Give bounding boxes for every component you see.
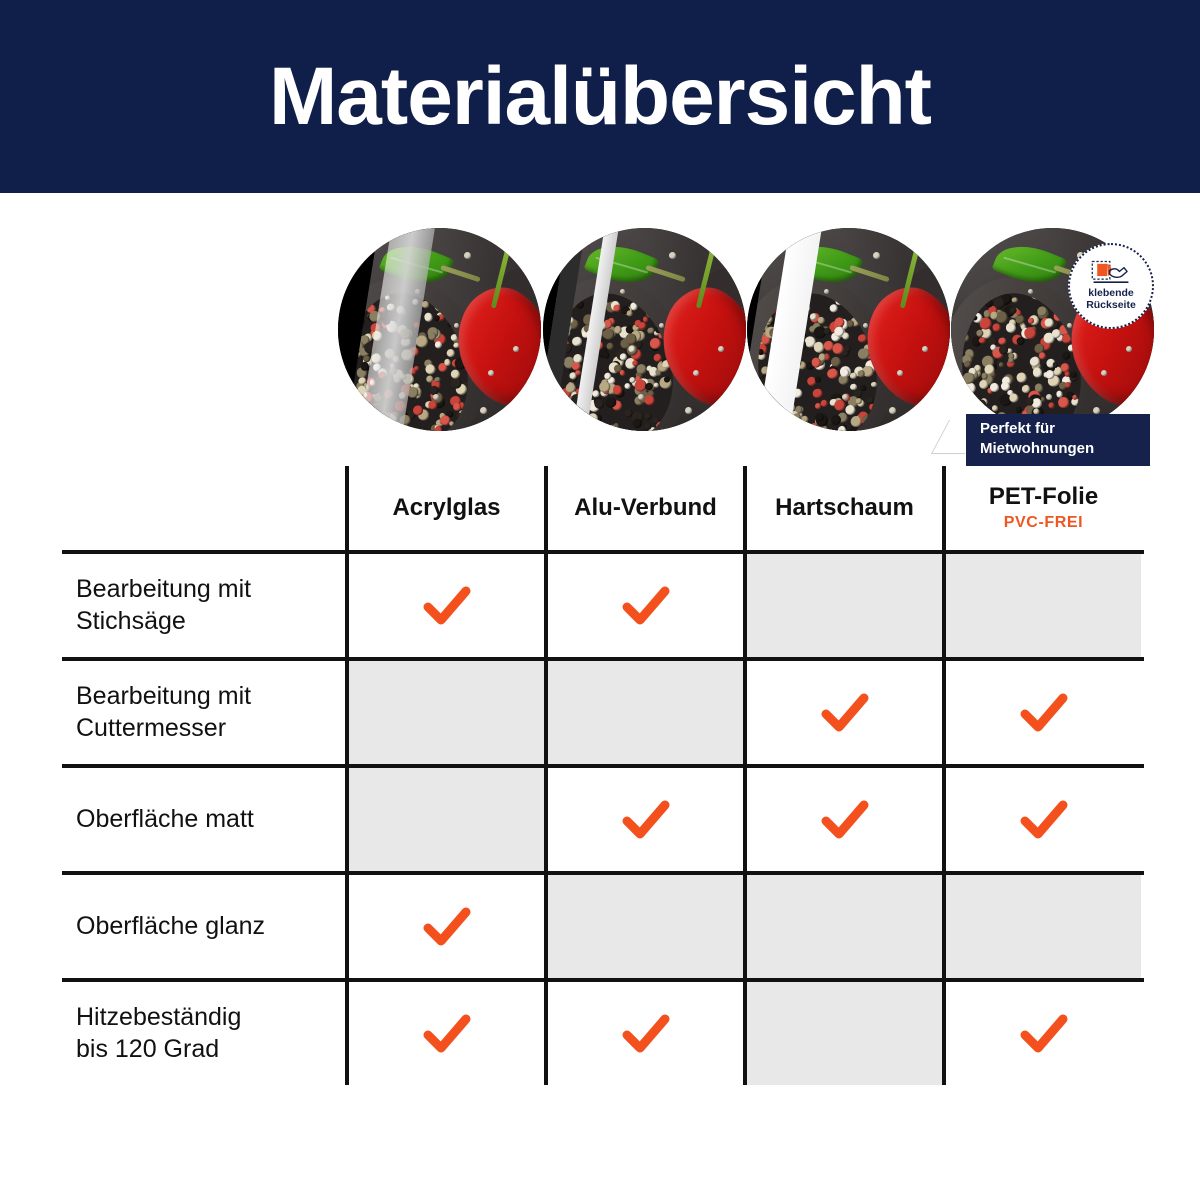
stray-peppercorn — [669, 252, 676, 259]
stray-peppercorn — [415, 289, 420, 294]
leaf-vein — [595, 256, 647, 273]
check-icon — [622, 1014, 670, 1054]
cell-r1-c2 — [743, 661, 942, 764]
peppercorn — [433, 300, 445, 312]
peppercorn — [359, 416, 367, 424]
row-label-stichsaege: Bearbeitung mit Stichsäge — [62, 554, 345, 657]
peppercorn — [585, 329, 595, 339]
product-image-circle — [747, 228, 950, 431]
peppercorn — [769, 327, 779, 337]
badge-label-line2: Rückseite — [1086, 300, 1136, 312]
check-icon — [821, 693, 869, 733]
peppercorn — [345, 319, 358, 332]
peppercorn — [835, 286, 843, 294]
table-row: Bearbeitung mit Stichsäge — [62, 550, 1144, 657]
peppercorn — [1011, 296, 1018, 303]
ribbon-label-line1: Perfekt für — [980, 419, 1150, 439]
leaf-vein — [1003, 256, 1055, 273]
peppercorn — [785, 372, 791, 378]
peppercorn — [607, 424, 616, 431]
peppercorn — [990, 344, 997, 351]
peppercorn — [427, 400, 438, 411]
stray-peppercorn — [620, 289, 625, 294]
peppercorn — [964, 360, 972, 368]
peppercorn — [1064, 381, 1071, 388]
mortar-inner — [951, 282, 1092, 431]
peppercorn — [786, 322, 798, 334]
product-sample-acrylglas[interactable] — [338, 228, 541, 431]
cell-r1-c3 — [942, 661, 1141, 764]
peppercorn — [448, 308, 455, 315]
peppercorn — [644, 412, 652, 420]
stray-peppercorn — [464, 252, 471, 259]
peppercorn — [764, 374, 770, 380]
peppercorn — [642, 299, 650, 307]
cell-r3-c2 — [743, 875, 942, 978]
stray-peppercorn — [1093, 407, 1100, 414]
peppercorn — [644, 394, 655, 405]
check-icon — [423, 907, 471, 947]
peppercorn — [969, 301, 980, 312]
peppercorn — [373, 394, 382, 403]
product-sample-strip — [338, 228, 1150, 438]
check-icon — [622, 800, 670, 840]
cell-r0-c3 — [942, 554, 1141, 657]
peppercorn — [423, 312, 433, 322]
peppercorn — [562, 343, 573, 354]
peppercorn — [446, 348, 455, 357]
table-row: Oberfläche glanz — [62, 871, 1144, 978]
cell-r4-c2 — [743, 982, 942, 1085]
peppercorn — [1015, 406, 1021, 412]
check-icon — [423, 1014, 471, 1054]
peppercorn — [852, 292, 860, 300]
column-subtitle-pvc-frei: PVC-FREI — [1004, 514, 1083, 532]
cell-r3-c0 — [345, 875, 544, 978]
mortar-inner — [747, 282, 888, 431]
column-title: Hartschaum — [775, 495, 914, 522]
peppercorn — [998, 361, 1004, 367]
peppercorn — [413, 321, 419, 327]
cell-r4-c0 — [345, 982, 544, 1085]
table-corner-cell — [62, 466, 345, 550]
peppercorns — [951, 282, 1092, 431]
peppercorn — [413, 365, 420, 372]
row-label-line1: Bearbeitung mit — [76, 682, 251, 710]
peppercorn — [443, 289, 453, 299]
material-comparison-table: Acrylglas Alu-Verbund Hartschaum PET-Fol… — [62, 466, 1144, 1085]
peppercorn — [1038, 352, 1046, 360]
peppercorn — [767, 304, 776, 313]
peppercorn — [572, 353, 582, 363]
product-image-circle — [543, 228, 746, 431]
cell-r2-c1 — [544, 768, 743, 871]
peppercorn — [429, 284, 442, 297]
peppercorn — [856, 397, 863, 404]
mortar-inner — [338, 282, 479, 431]
peppercorn — [814, 411, 824, 421]
peppercorn — [362, 392, 368, 398]
peppercorn — [634, 296, 642, 304]
peppercorns — [747, 282, 888, 431]
peppercorn — [864, 424, 875, 431]
product-sample-alu-verbund[interactable] — [543, 228, 746, 431]
peppercorn — [1057, 396, 1070, 409]
peppercorn — [814, 402, 821, 409]
column-title: Acrylglas — [392, 495, 500, 522]
peppercorn — [453, 424, 464, 431]
peppercorn — [671, 407, 678, 414]
peppercorn — [455, 412, 462, 419]
peppercorn — [635, 363, 646, 374]
cell-r2-c0 — [345, 768, 544, 871]
peppercorn — [378, 371, 385, 378]
row-label-oberflaeche-matt: Oberfläche matt — [62, 768, 345, 871]
peppercorn — [826, 367, 838, 379]
peppercorn — [871, 381, 878, 388]
peppercorn — [359, 318, 366, 325]
peppercorn — [364, 342, 377, 355]
peppercorn — [868, 403, 876, 411]
peppercorn — [575, 370, 581, 376]
peppercorn — [764, 315, 772, 323]
peppercorn — [567, 316, 575, 324]
cell-r0-c1 — [544, 554, 743, 657]
peppercorn — [1028, 317, 1034, 323]
stray-peppercorn — [1028, 289, 1033, 294]
peppercorn — [624, 382, 631, 389]
row-label-line1: Oberfläche glanz — [76, 912, 265, 940]
cell-r2-c3 — [942, 768, 1141, 871]
peppercorn — [792, 387, 803, 398]
peppercorn — [368, 417, 375, 424]
peppercorn — [450, 333, 458, 341]
peppercorn — [643, 422, 651, 430]
cell-r1-c0 — [345, 661, 544, 764]
leaf-vein — [390, 256, 442, 273]
peppercorn — [857, 333, 867, 343]
peppercorn — [369, 379, 375, 385]
peppercorn — [386, 302, 394, 310]
peppercorn — [846, 319, 854, 327]
peppercorn — [399, 392, 406, 399]
row-label-line1: Bearbeitung mit — [76, 575, 251, 603]
peppercorn — [1016, 372, 1027, 383]
peppercorn — [583, 342, 590, 349]
peppercorn — [653, 382, 659, 388]
peppercorn — [443, 358, 451, 366]
row-label-hitzebestaendig: Hitzebeständig bis 120 Grad — [62, 982, 345, 1085]
peppercorn — [1048, 402, 1055, 409]
stray-peppercorn — [685, 407, 692, 414]
check-icon — [423, 586, 471, 626]
column-header-hartschaum: Hartschaum — [743, 466, 942, 550]
peppercorn — [998, 344, 1008, 354]
cell-r0-c2 — [743, 554, 942, 657]
peppercorn — [584, 367, 595, 378]
peppercorn — [371, 330, 383, 342]
peppercorn — [857, 370, 864, 377]
cell-r3-c1 — [544, 875, 743, 978]
stray-peppercorn — [873, 252, 880, 259]
peppercorn — [976, 329, 984, 337]
peppercorn — [1052, 361, 1058, 367]
adhesive-back-badge: klebende Rückseite — [1068, 243, 1154, 329]
peppercorn — [991, 404, 998, 411]
peppercorn — [638, 321, 646, 329]
stray-peppercorn — [824, 289, 829, 294]
product-sample-hartschaum[interactable] — [747, 228, 950, 431]
peppercorn — [422, 301, 429, 308]
peppercorn — [645, 287, 653, 295]
peppercorn — [655, 420, 668, 431]
peppercorn — [820, 399, 828, 407]
chili-pepper-photo — [543, 228, 746, 431]
peppercorn — [447, 321, 453, 327]
table-row: Oberfläche matt — [62, 764, 1144, 871]
cell-r3-c3 — [942, 875, 1141, 978]
peppercorn — [625, 310, 632, 317]
row-label-line1: Oberfläche matt — [76, 805, 254, 833]
peppercorn — [753, 324, 761, 332]
rental-flat-ribbon: Perfekt für Mietwohnungen — [966, 414, 1150, 466]
peppercorn — [811, 387, 822, 398]
stray-peppercorn — [480, 407, 487, 414]
peppercorn — [434, 341, 442, 349]
peppercorn — [992, 323, 1000, 331]
peppercorn — [978, 336, 986, 344]
peppercorn — [668, 420, 676, 428]
peppercorn — [371, 387, 378, 394]
peppercorn — [1061, 333, 1072, 344]
peppercorn — [860, 385, 867, 392]
stray-peppercorn — [922, 346, 928, 352]
column-header-alu-verbund: Alu-Verbund — [544, 466, 743, 550]
chili-pepper-photo — [338, 228, 541, 431]
peppercorn — [619, 369, 625, 375]
peppercorns — [543, 282, 684, 431]
row-label-line1: Hitzebeständig — [76, 1003, 241, 1031]
column-header-acrylglas: Acrylglas — [345, 466, 544, 550]
peppercorn — [1061, 351, 1070, 360]
peppercorn — [781, 332, 787, 338]
peppercorn — [606, 342, 614, 350]
row-label-oberflaeche-glanz: Oberfläche glanz — [62, 875, 345, 978]
peppercorns — [338, 282, 479, 431]
table-row: Hitzebeständig bis 120 Grad — [62, 978, 1144, 1085]
peppercorn — [844, 345, 852, 353]
peppercorn — [1025, 397, 1034, 406]
peppercorn — [984, 364, 995, 375]
peppercorn — [857, 426, 863, 431]
peppercorn — [602, 351, 610, 359]
page-title: Materialübersicht — [269, 56, 931, 138]
check-icon — [1020, 1014, 1068, 1054]
cell-r0-c0 — [345, 554, 544, 657]
peppercorn — [576, 300, 586, 310]
table-header-row: Acrylglas Alu-Verbund Hartschaum PET-Fol… — [62, 466, 1144, 550]
check-icon — [622, 586, 670, 626]
stray-peppercorn — [718, 346, 724, 352]
row-label-line2: Cuttermesser — [76, 714, 226, 742]
peppercorn — [866, 396, 874, 404]
peppercorn — [433, 314, 440, 321]
product-image-circle — [338, 228, 541, 431]
stray-peppercorn — [889, 407, 896, 414]
check-icon — [1020, 800, 1068, 840]
peppercorn — [393, 375, 401, 383]
chili-pepper-photo — [747, 228, 950, 431]
peppercorn — [412, 298, 419, 305]
cell-r4-c3 — [942, 982, 1141, 1085]
peppercorn — [971, 314, 977, 320]
peppercorn — [1007, 356, 1014, 363]
peppercorn — [876, 401, 887, 412]
peppercorn — [876, 418, 888, 431]
peppercorn — [384, 294, 390, 300]
cell-r4-c1 — [544, 982, 743, 1085]
peppercorn — [664, 376, 670, 382]
peppercorn — [571, 336, 582, 347]
row-label-cuttermesser: Bearbeitung mit Cuttermesser — [62, 661, 345, 764]
check-icon — [1020, 693, 1068, 733]
peppercorn — [809, 312, 817, 320]
peppercorn — [619, 353, 627, 361]
mortar-inner — [543, 282, 684, 431]
peppercorn — [998, 336, 1007, 345]
cell-r1-c1 — [544, 661, 743, 764]
peppercorn — [1032, 367, 1043, 378]
cell-r2-c2 — [743, 768, 942, 871]
row-label-line2: bis 120 Grad — [76, 1035, 219, 1063]
table-row: Bearbeitung mit Cuttermesser — [62, 657, 1144, 764]
peppercorn — [453, 342, 459, 348]
ribbon-label-line2: Mietwohnungen — [980, 439, 1150, 459]
peppercorn — [434, 376, 440, 382]
leaf-vein — [799, 256, 851, 273]
peppercorn — [858, 314, 867, 323]
check-icon — [821, 800, 869, 840]
peppercorn — [799, 311, 809, 321]
peppercorn — [360, 410, 366, 416]
page-header: Materialübersicht — [0, 0, 1200, 193]
peel-adhesive-back-icon — [1091, 260, 1131, 286]
peppercorn — [390, 366, 398, 374]
peppercorn — [1054, 308, 1061, 315]
row-label-line2: Stichsäge — [76, 607, 186, 635]
stray-peppercorn — [1126, 346, 1132, 352]
peppercorn — [653, 353, 662, 362]
column-header-pet-folie: PET-Folie PVC-FREI — [942, 466, 1141, 550]
column-title: Alu-Verbund — [574, 495, 717, 522]
peppercorn — [383, 388, 393, 398]
peppercorn — [351, 307, 359, 315]
column-title: PET-Folie — [989, 484, 1098, 511]
stray-peppercorn — [513, 346, 519, 352]
peppercorn — [613, 304, 621, 312]
peppercorn — [424, 363, 436, 375]
